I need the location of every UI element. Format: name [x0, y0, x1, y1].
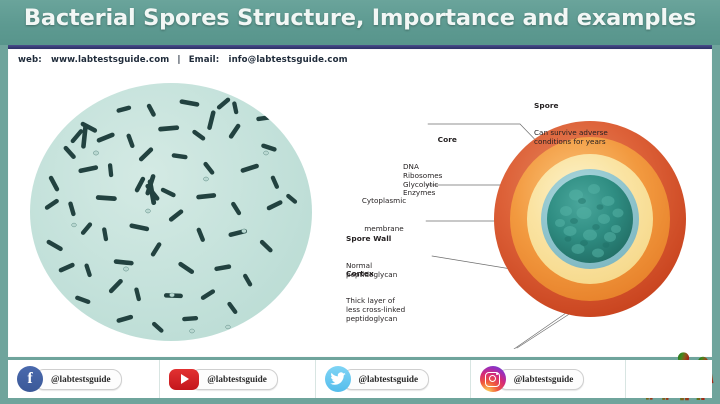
email-address[interactable]: info@labtestsguide.com — [229, 55, 348, 65]
bacterial-spores-micrograph — [30, 83, 312, 341]
page-title: Bacterial Spores Structure, Importance a… — [0, 5, 720, 31]
contact-line: web: www.labtestsguide.com | Email: info… — [18, 55, 348, 65]
social-bar-spacer — [626, 360, 712, 398]
facebook-icon[interactable]: f — [17, 366, 43, 392]
label-spore: Spore Can survive adverse conditions for… — [534, 81, 608, 166]
label-cortex: Cortex Thick layer of less cross-linked … — [346, 249, 434, 343]
web-label: web: — [18, 55, 42, 65]
label-cortex-heading: Cortex — [346, 269, 434, 278]
twitter-handle[interactable]: @labtestsguide — [342, 369, 430, 390]
website-url[interactable]: www.labtestsguide.com — [51, 55, 169, 65]
youtube-handle[interactable]: @labtestsguide — [190, 369, 278, 390]
social-account-instagram[interactable]: @labtestsguide — [471, 360, 626, 398]
contact-separator: | — [172, 55, 185, 65]
label-spore-body: Can survive adverse conditions for years — [534, 129, 608, 147]
title-bar: Bacterial Spores Structure, Importance a… — [0, 0, 720, 45]
bacterial-spore-cross-section: Spore Can survive adverse conditions for… — [328, 77, 704, 349]
label-spore-wall-heading: Spore Wall — [346, 234, 426, 243]
label-spore-heading: Spore — [534, 101, 608, 110]
label-cytoplasmic-heading: Cytoplasmic — [342, 197, 426, 206]
email-label: Email: — [189, 55, 220, 65]
content-sheet: web: www.labtestsguide.com | Email: info… — [8, 49, 712, 357]
label-cortex-body: Thick layer of less cross-linked peptido… — [346, 297, 434, 323]
instagram-handle[interactable]: @labtestsguide — [497, 369, 585, 390]
social-account-twitter[interactable]: @labtestsguide — [316, 360, 471, 398]
social-account-facebook[interactable]: f @labtestsguide — [8, 360, 160, 398]
twitter-icon[interactable] — [325, 366, 351, 392]
youtube-icon[interactable] — [169, 369, 199, 390]
facebook-handle[interactable]: @labtestsguide — [34, 369, 122, 390]
instagram-icon[interactable] — [480, 366, 506, 392]
social-account-youtube[interactable]: @labtestsguide — [160, 360, 315, 398]
label-core-heading: Core — [391, 135, 457, 144]
slide-canvas: Bacterial Spores Structure, Importance a… — [0, 0, 720, 404]
social-bar: f @labtestsguide @labtestsguide @labtest… — [8, 360, 712, 398]
